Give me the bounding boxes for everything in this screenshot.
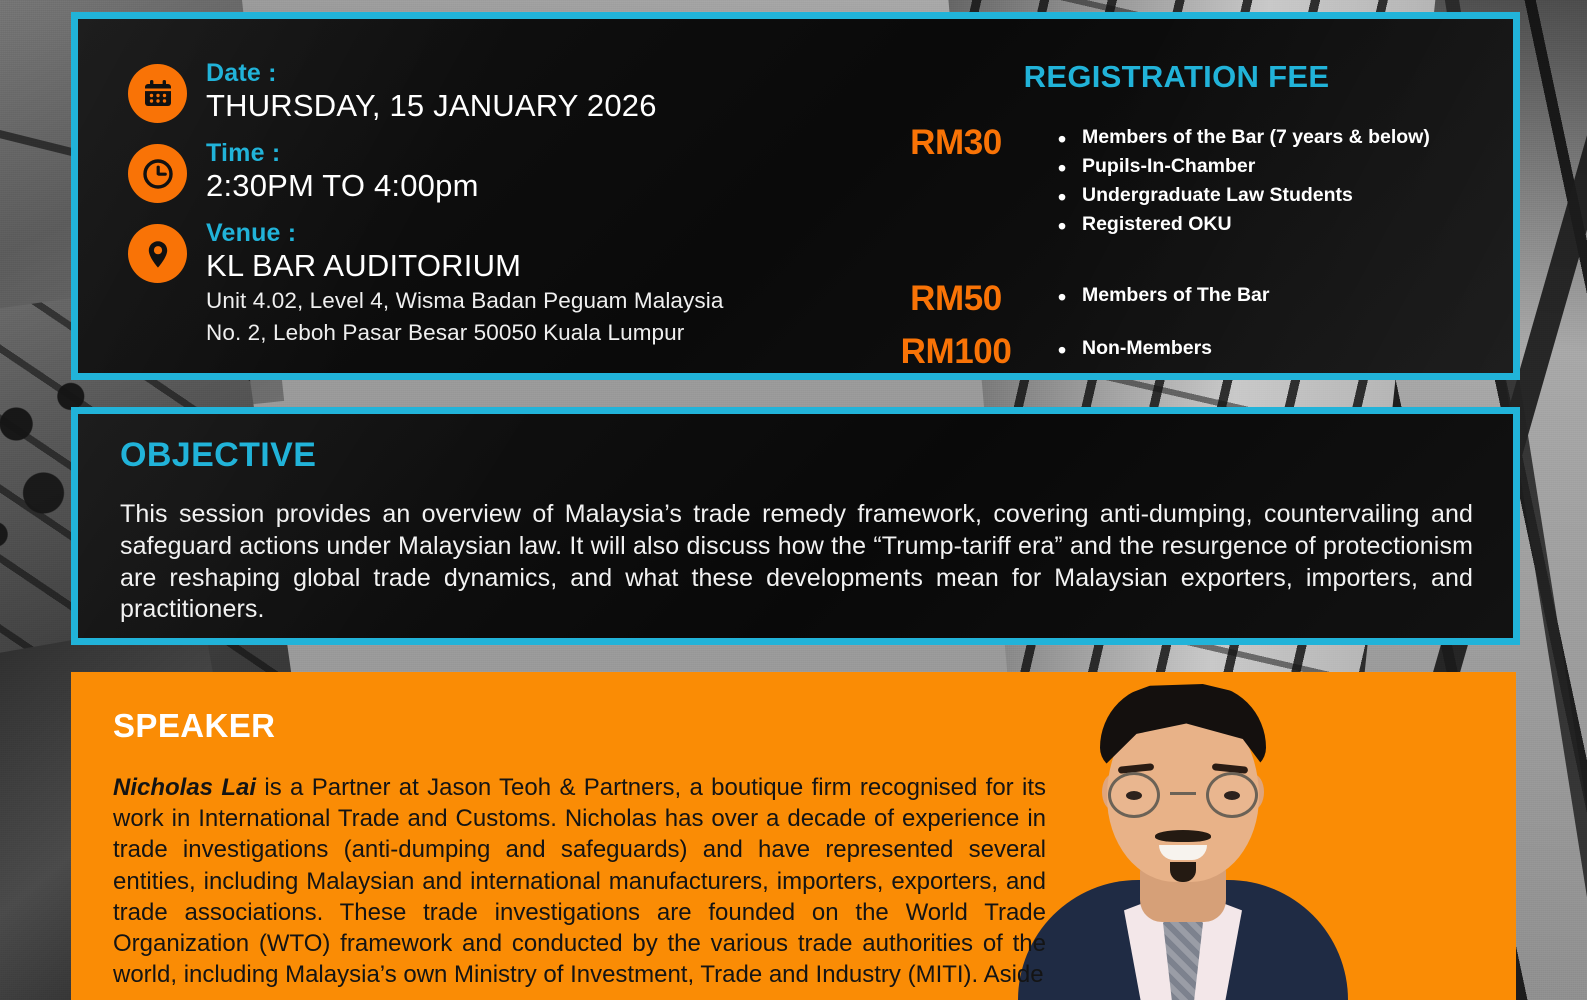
portrait-glasses-right <box>1206 772 1258 818</box>
portrait-mouth <box>1159 845 1207 860</box>
fee-items-rm100: Non-Members <box>1044 334 1212 363</box>
info-label-date: Date : <box>206 59 657 87</box>
info-value-time: 2:30PM TO 4:00pm <box>206 167 479 204</box>
info-value-date: THURSDAY, 15 JANUARY 2026 <box>206 87 657 124</box>
fee-item: Pupils-In-Chamber <box>1052 152 1430 181</box>
portrait-glasses-bridge <box>1170 792 1196 795</box>
fee-group-rm50: RM50 Members of The Bar <box>868 281 1485 316</box>
objective-panel: OBJECTIVE This session provides an overv… <box>71 407 1520 645</box>
speaker-bio: Nicholas Lai is a Partner at Jason Teoh … <box>71 745 1046 990</box>
info-row-time: Time : 2:30PM TO 4:00pm <box>128 139 868 204</box>
event-info-column: Date : THURSDAY, 15 JANUARY 2026 Time : … <box>78 19 868 373</box>
event-details-panel: Date : THURSDAY, 15 JANUARY 2026 Time : … <box>71 12 1520 380</box>
fee-item: Registered OKU <box>1052 210 1430 239</box>
speaker-bio-text: is a Partner at Jason Teoh & Partners, a… <box>113 774 1046 988</box>
fee-item: Members of The Bar <box>1052 281 1269 310</box>
fee-item: Non-Members <box>1052 334 1212 363</box>
info-venue-address-line-2: No. 2, Leboh Pasar Besar 50050 Kuala Lum… <box>206 317 723 349</box>
info-row-date: Date : THURSDAY, 15 JANUARY 2026 <box>128 59 868 124</box>
speaker-name: Nicholas Lai <box>113 774 256 801</box>
info-row-venue: Venue : KL BAR AUDITORIUM Unit 4.02, Lev… <box>128 219 868 348</box>
objective-title: OBJECTIVE <box>120 436 1473 475</box>
info-label-venue: Venue : <box>206 219 723 247</box>
info-label-time: Time : <box>206 139 479 167</box>
fee-amount-rm50: RM50 <box>868 281 1044 316</box>
location-pin-icon <box>128 224 187 283</box>
objective-body: This session provides an overview of Mal… <box>120 499 1473 626</box>
fee-amount-rm30: RM30 <box>868 125 1044 160</box>
registration-fee-column: REGISTRATION FEE RM30 Members of the Bar… <box>868 19 1513 373</box>
fee-item: Undergraduate Law Students <box>1052 181 1430 210</box>
calendar-icon <box>128 64 187 123</box>
portrait-glasses-left <box>1108 772 1160 818</box>
portrait-moustache <box>1155 830 1211 842</box>
fee-items-rm50: Members of The Bar <box>1044 281 1269 310</box>
speaker-title: SPEAKER <box>71 672 1516 745</box>
clock-icon <box>128 144 187 203</box>
fee-amount-rm100: RM100 <box>868 334 1044 369</box>
info-value-venue: KL BAR AUDITORIUM <box>206 247 723 284</box>
speaker-portrait <box>1018 700 1348 1000</box>
fee-item: Members of the Bar (7 years & below) <box>1052 123 1430 152</box>
info-venue-address-line-1: Unit 4.02, Level 4, Wisma Badan Peguam M… <box>206 285 723 317</box>
speaker-panel: SPEAKER Nicholas Lai is a Partner at Jas… <box>71 672 1516 1000</box>
fee-group-rm100: RM100 Non-Members <box>868 334 1485 369</box>
registration-fee-title: REGISTRATION FEE <box>868 59 1485 95</box>
fee-items-rm30: Members of the Bar (7 years & below) Pup… <box>1044 123 1430 239</box>
fee-group-rm30: RM30 Members of the Bar (7 years & below… <box>868 123 1485 239</box>
